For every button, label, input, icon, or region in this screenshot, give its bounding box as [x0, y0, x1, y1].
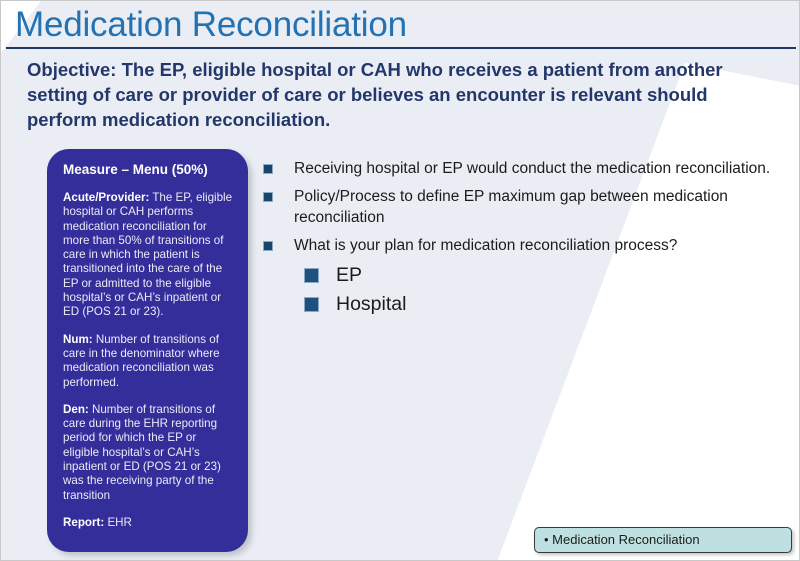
measure-label-num: Num: — [63, 333, 93, 346]
bullet-item-label: What is your plan for medication reconci… — [294, 235, 677, 256]
measure-label-den: Den: — [63, 403, 89, 416]
sub-bullet-list: EP Hospital — [304, 263, 773, 316]
measure-label-acute-provider: Acute/Provider: — [63, 191, 149, 204]
objective-text: Objective: The EP, eligible hospital or … — [27, 57, 757, 132]
measure-card: Measure – Menu (50%) Acute/Provider: The… — [47, 149, 248, 552]
slide-canvas: Medication Reconciliation Objective: The… — [0, 0, 800, 561]
footer-callout-label: • Medication Reconciliation — [544, 532, 700, 548]
measure-card-heading: Measure – Menu (50%) — [63, 161, 234, 178]
title-area: Medication Reconciliation — [1, 1, 800, 51]
title-divider — [6, 47, 796, 49]
sub-bullet-item: Hospital — [304, 292, 773, 316]
bullet-item: Receiving hospital or EP would conduct t… — [263, 158, 773, 179]
bullet-item-label: Receiving hospital or EP would conduct t… — [294, 158, 770, 179]
square-bullet-icon — [263, 241, 273, 251]
footer-callout-box: • Medication Reconciliation — [534, 527, 792, 553]
measure-paragraph-report: Report: EHR — [63, 516, 234, 530]
measure-body-report: EHR — [104, 516, 132, 529]
square-bullet-icon — [263, 164, 273, 174]
square-sub-bullet-icon — [304, 268, 319, 283]
measure-paragraph-num: Num: Number of transitions of care in th… — [63, 333, 234, 390]
square-bullet-icon — [263, 192, 273, 202]
bullet-list: Receiving hospital or EP would conduct t… — [263, 158, 773, 321]
sub-bullet-item-label: Hospital — [336, 292, 406, 316]
measure-body-den: Number of transitions of care during the… — [63, 403, 221, 502]
page-title: Medication Reconciliation — [15, 3, 407, 47]
measure-paragraph-acute-provider: Acute/Provider: The EP, eligible hospita… — [63, 191, 234, 320]
measure-paragraph-den: Den: Number of transitions of care durin… — [63, 403, 234, 503]
measure-body-acute-provider: The EP, eligible hospital or CAH perform… — [63, 191, 232, 318]
sub-bullet-item-label: EP — [336, 263, 362, 287]
bullet-item: Policy/Process to define EP maximum gap … — [263, 186, 773, 228]
sub-bullet-item: EP — [304, 263, 773, 287]
bullet-item-label: Policy/Process to define EP maximum gap … — [294, 186, 773, 228]
measure-label-report: Report: — [63, 516, 104, 529]
bullet-item: What is your plan for medication reconci… — [263, 235, 773, 256]
square-sub-bullet-icon — [304, 297, 319, 312]
